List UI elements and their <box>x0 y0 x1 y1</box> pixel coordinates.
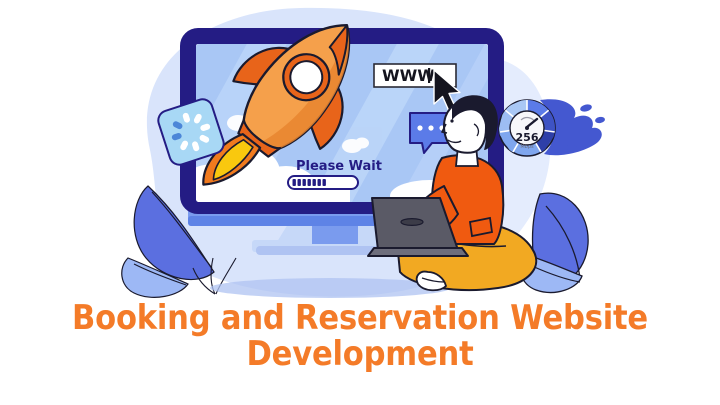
progress-bar-fill <box>293 179 326 186</box>
page-title: Booking and Reservation Website Developm… <box>0 300 720 372</box>
url-bar-text: WWW <box>382 66 435 85</box>
speed-gauge-icon: 256 Mbps <box>498 98 605 156</box>
typing-dot <box>428 125 433 130</box>
typing-dot <box>417 125 422 130</box>
loading-label: Please Wait <box>296 159 382 174</box>
gauge-unit: Mbps <box>520 144 534 150</box>
url-bar-caret <box>428 68 430 83</box>
gauge-value: 256 <box>516 131 539 144</box>
page-title-line-1: Booking and Reservation Website <box>0 300 720 336</box>
illustration-stage: WWW Please Wait <box>0 0 720 405</box>
page-title-line-2: Development <box>0 336 720 372</box>
